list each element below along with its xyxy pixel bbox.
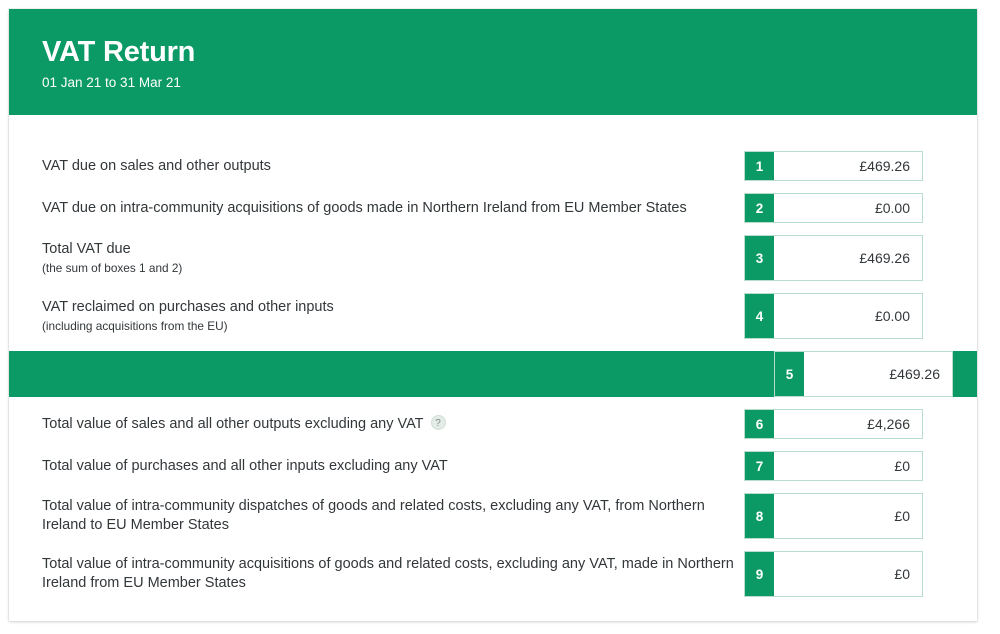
vat-row: Total value of intra-community dispatche… (9, 493, 977, 539)
row-label-text: VAT due on intra-community acquisitions … (42, 199, 734, 218)
period-label: 01 Jan 21 to 31 Mar 21 (42, 74, 977, 92)
vat-box-5[interactable]: 5£469.26 (774, 351, 953, 397)
box-value-field[interactable]: £469.26 (804, 352, 952, 396)
row-label-text: VAT due on sales and other outputs (42, 157, 734, 176)
box-number-badge: 5 (775, 352, 804, 396)
vat-box-2[interactable]: 2£0.00 (744, 193, 923, 223)
vat-box-9[interactable]: 9£0 (744, 551, 923, 597)
box-number-badge: 9 (745, 552, 774, 596)
row-label-text: Total value of intra-community dispatche… (42, 497, 734, 535)
vat-box-7[interactable]: 7£0 (744, 451, 923, 481)
vat-row: Total value of purchases and all other i… (9, 451, 977, 481)
box-value-field[interactable]: £0.00 (774, 194, 922, 222)
row-label-text: VAT reclaimed on purchases and other inp… (42, 298, 734, 317)
vat-box-6[interactable]: 6£4,266 (744, 409, 923, 439)
row-label: Total value of intra-community dispatche… (9, 497, 744, 535)
row-sublabel-text: (the sum of boxes 1 and 2) (42, 260, 734, 276)
vat-box-4[interactable]: 4£0.00 (744, 293, 923, 339)
vat-return-card: VAT Return 01 Jan 21 to 31 Mar 21 VAT du… (9, 9, 977, 621)
vat-box-1[interactable]: 1£469.26 (744, 151, 923, 181)
box-value-field[interactable]: £0 (774, 494, 922, 538)
box-number-badge: 3 (745, 236, 774, 280)
vat-row: VAT reclaimed on purchases and other inp… (9, 293, 977, 339)
row-label: Total VAT due(the sum of boxes 1 and 2) (9, 240, 744, 276)
box-number-badge: 7 (745, 452, 774, 480)
box-value-field[interactable]: £469.26 (774, 236, 922, 280)
row-label: VAT due on intra-community acquisitions … (9, 199, 744, 218)
vat-rows-list: VAT due on sales and other outputs1£469.… (9, 115, 977, 597)
vat-row: Net VAT to be paid to Customs or reclaim… (9, 351, 977, 397)
row-label: Total value of sales and all other outpu… (9, 415, 744, 434)
row-sublabel-text: (including acquisitions from the EU) (42, 318, 734, 334)
page-title: VAT Return (42, 35, 977, 69)
card-header: VAT Return 01 Jan 21 to 31 Mar 21 (9, 9, 977, 115)
box-number-badge: 4 (745, 294, 774, 338)
row-label-text: Total value of purchases and all other i… (42, 457, 734, 476)
row-label: Total value of purchases and all other i… (9, 457, 744, 476)
box-value-field[interactable]: £0.00 (774, 294, 922, 338)
box-number-badge: 6 (745, 410, 774, 438)
row-label-text: Total value of intra-community acquisiti… (42, 555, 734, 593)
row-label-text: Total VAT due (42, 240, 734, 259)
row-label: VAT reclaimed on purchases and other inp… (9, 298, 744, 334)
box-value-field[interactable]: £0 (774, 552, 922, 596)
vat-row: Total value of sales and all other outpu… (9, 409, 977, 439)
vat-row: VAT due on sales and other outputs1£469.… (9, 151, 977, 181)
vat-row: VAT due on intra-community acquisitions … (9, 193, 977, 223)
box-number-badge: 1 (745, 152, 774, 180)
vat-row: Total VAT due(the sum of boxes 1 and 2)3… (9, 235, 977, 281)
vat-return-page: VAT Return 01 Jan 21 to 31 Mar 21 VAT du… (0, 0, 1000, 634)
row-label-text: Total value of sales and all other outpu… (42, 415, 734, 434)
row-label: Total value of intra-community acquisiti… (9, 555, 744, 593)
vat-box-8[interactable]: 8£0 (744, 493, 923, 539)
box-value-field[interactable]: £0 (774, 452, 922, 480)
help-icon[interactable]: ? (431, 415, 446, 430)
box-number-badge: 8 (745, 494, 774, 538)
box-number-badge: 2 (745, 194, 774, 222)
row-label: VAT due on sales and other outputs (9, 157, 744, 176)
vat-box-3[interactable]: 3£469.26 (744, 235, 923, 281)
box-value-field[interactable]: £4,266 (774, 410, 922, 438)
vat-row: Total value of intra-community acquisiti… (9, 551, 977, 597)
box-value-field[interactable]: £469.26 (774, 152, 922, 180)
